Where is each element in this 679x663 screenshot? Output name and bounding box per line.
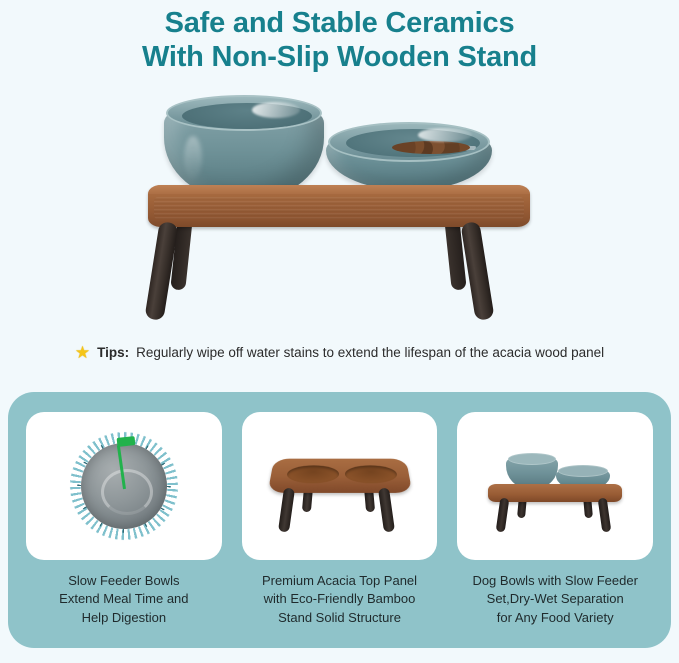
caption-line-3: Help Digestion: [26, 609, 222, 627]
feature-captions-row: Slow Feeder Bowls Extend Meal Time and H…: [26, 572, 653, 627]
feature-panel: Slow Feeder Bowls Extend Meal Time and H…: [8, 392, 671, 648]
slow-feeder-dial-icon: [61, 423, 187, 549]
page-title-line-1: Safe and Stable Ceramics: [0, 6, 679, 40]
stand-leg-front-right: [377, 487, 394, 532]
feature-caption-full-set: Dog Bowls with Slow Feeder Set,Dry-Wet S…: [457, 572, 653, 627]
bowl-recess-right: [344, 465, 397, 483]
caption-line-2: Extend Meal Time and: [26, 590, 222, 608]
tips-label: Tips:: [97, 345, 129, 360]
feature-caption-wooden-stand: Premium Acacia Top Panel with Eco-Friend…: [242, 572, 438, 627]
hero-product-image: [0, 82, 679, 337]
full-bowl-set-photo: [480, 436, 630, 536]
caption-line-3: for Any Food Variety: [457, 609, 653, 627]
caption-line-3: Stand Solid Structure: [242, 609, 438, 627]
stand-leg-front-right: [460, 222, 494, 322]
bare-wooden-stand-photo: [265, 438, 415, 534]
tips-text: Regularly wipe off water stains to exten…: [136, 345, 604, 360]
star-icon: ★: [75, 344, 90, 361]
product-stage: [130, 82, 550, 337]
stand-leg-front-left: [277, 487, 294, 532]
feature-cards-row: [26, 412, 653, 560]
bowl-highlight-side: [184, 136, 202, 180]
feature-card-wooden-stand: [242, 412, 438, 560]
acacia-wood-top-panel: [148, 185, 530, 227]
tips-bar: ★ Tips: Regularly wipe off water stains …: [0, 339, 679, 365]
bowl-recess-left: [285, 465, 338, 483]
feature-card-full-set: [457, 412, 653, 560]
clock-hand-flag-icon: [116, 436, 135, 447]
caption-line-1: Dog Bowls with Slow Feeder: [457, 572, 653, 590]
slow-feeder-rim: [328, 122, 490, 162]
set-leg-front-left: [496, 498, 510, 533]
wood-grain-texture: [154, 197, 524, 219]
set-leg-front-right: [598, 498, 612, 533]
set-deep-bowl: [506, 454, 558, 488]
page-title: Safe and Stable Ceramics With Non-Slip W…: [0, 0, 679, 74]
bowl-rim: [166, 95, 322, 131]
feature-card-slow-feeder: [26, 412, 222, 560]
caption-line-2: Set,Dry-Wet Separation: [457, 590, 653, 608]
caption-line-1: Slow Feeder Bowls: [26, 572, 222, 590]
caption-line-2: with Eco-Friendly Bamboo: [242, 590, 438, 608]
caption-line-1: Premium Acacia Top Panel: [242, 572, 438, 590]
slow-feeder-ceramic-bowl: [326, 124, 492, 190]
feature-caption-slow-feeder: Slow Feeder Bowls Extend Meal Time and H…: [26, 572, 222, 627]
page-title-line-2: With Non-Slip Wooden Stand: [0, 40, 679, 74]
